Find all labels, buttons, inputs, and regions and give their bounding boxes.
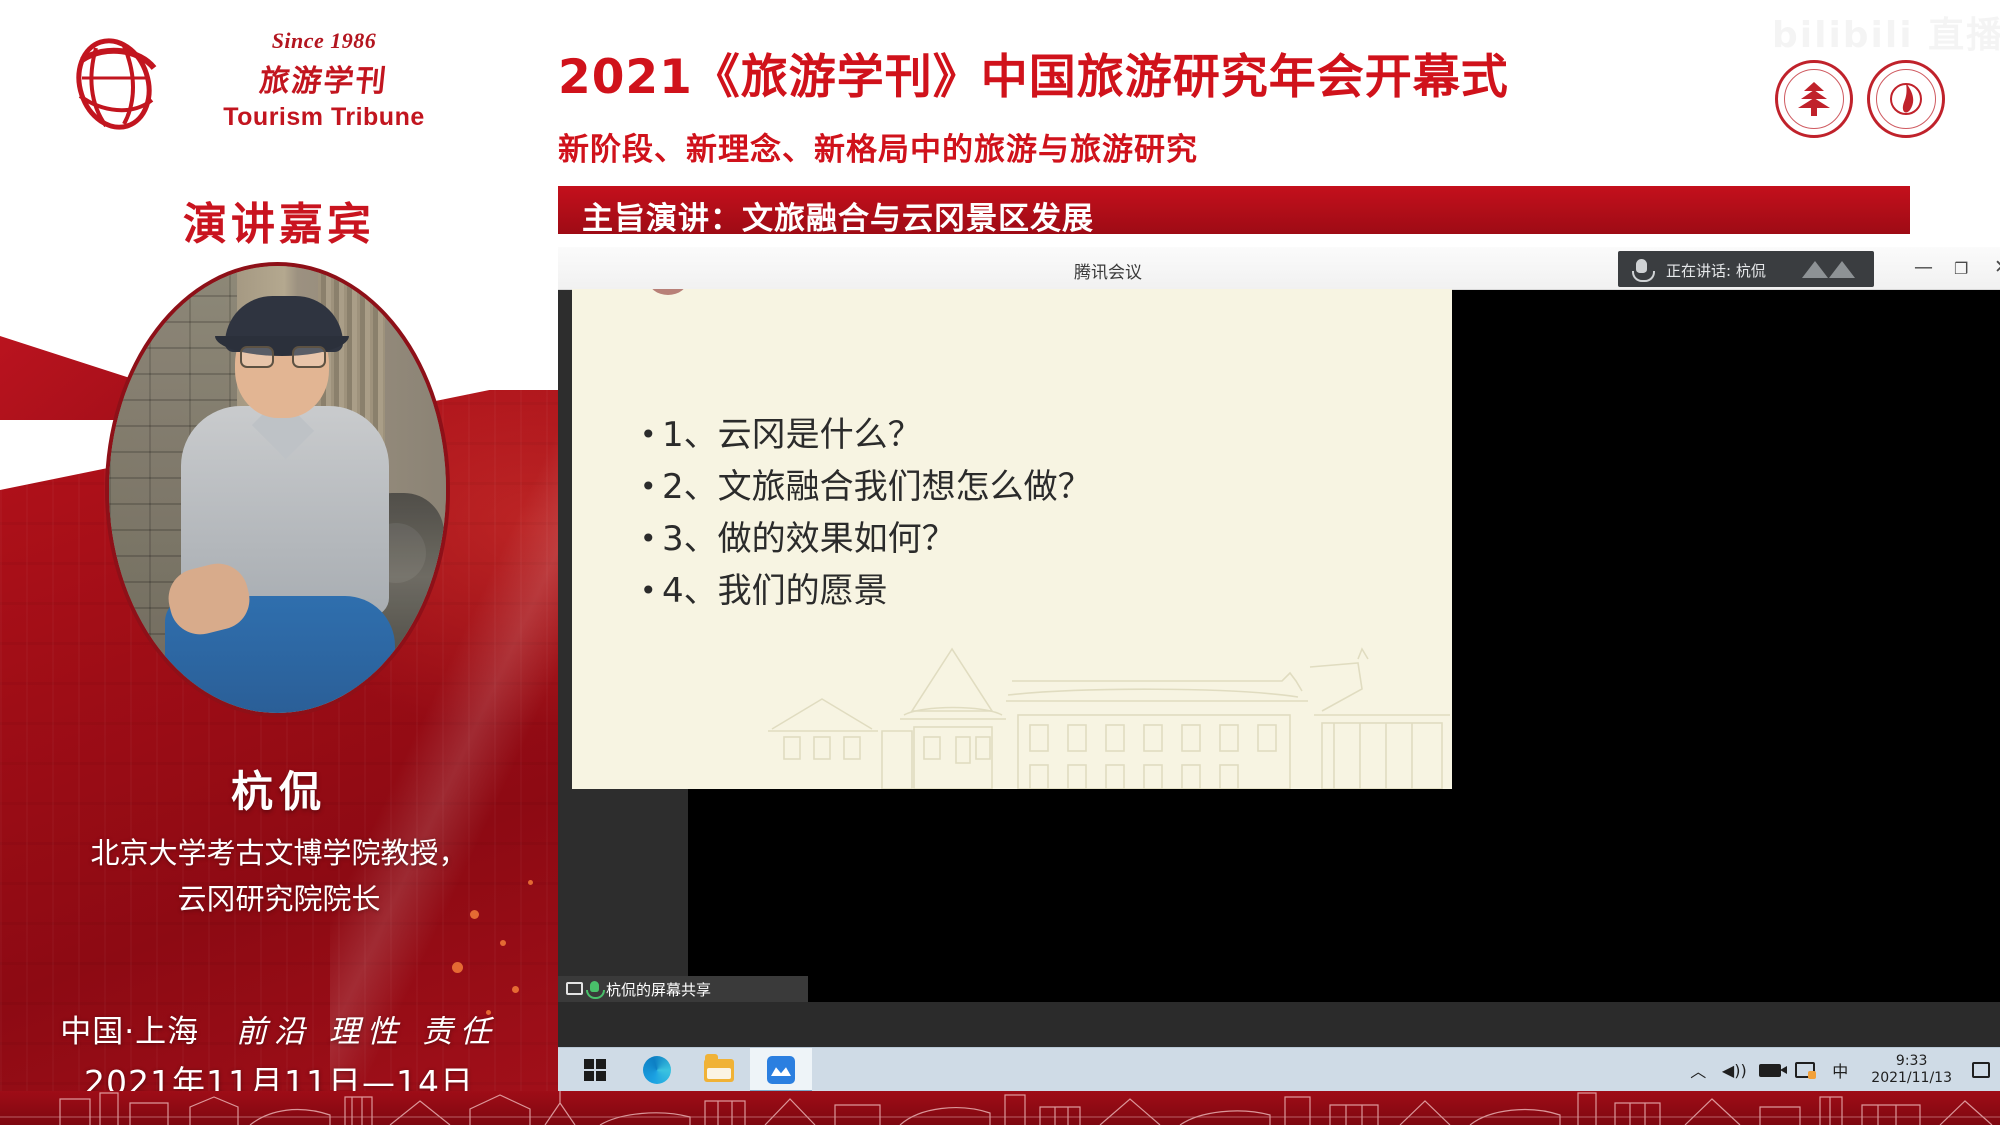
conference-title: 2021《旅游学刊》中国旅游研究年会开幕式 — [558, 38, 1638, 107]
logo-since-text: Since 1986 — [174, 28, 474, 54]
shanghai-normal-university-seal — [1867, 60, 1945, 138]
screen-share-status-bar: 杭侃的屏幕共享 — [558, 976, 808, 1002]
bullet-marker: • — [640, 513, 662, 565]
mic-active-icon — [590, 981, 599, 992]
list-item: • 3、做的效果如何？ — [640, 513, 1400, 565]
speaker-role: 北京大学考古文博学院教授， 云冈研究院院长 — [0, 830, 558, 922]
logo-english-name: Tourism Tribune — [174, 103, 474, 132]
tencent-meeting-icon — [767, 1056, 795, 1084]
meeting-window-title: 腾讯会议 — [558, 258, 1658, 283]
windows-logo-icon — [584, 1059, 606, 1081]
livestream-screen: Since 1986 旅游学刊 Tourism Tribune 演讲嘉宾 杭侃 … — [0, 0, 2000, 1125]
keynote-section-banner: 主旨演讲：文旅融合与云冈景区发展 — [558, 186, 1910, 234]
minimize-button[interactable]: — — [1914, 257, 1933, 277]
spark-particle — [512, 986, 519, 993]
tourism-tribune-logo: Since 1986 旅游学刊 Tourism Tribune — [62, 28, 482, 138]
spark-particle — [452, 962, 463, 973]
event-location: 中国·上海 — [60, 1014, 199, 1050]
list-item: • 2、文旅融合我们想怎么做？ — [640, 461, 1400, 513]
monitor-icon — [566, 982, 583, 995]
university-seals — [1775, 60, 1955, 140]
audio-wave-icon — [1802, 261, 1856, 279]
clock-date: 2021/11/13 — [1871, 1070, 1952, 1087]
pagoda-icon — [1794, 79, 1834, 119]
slide-decorative-arc — [648, 289, 688, 295]
globe-icon — [62, 34, 166, 134]
tencent-meeting-taskbar-button[interactable] — [750, 1048, 812, 1092]
folder-icon — [704, 1059, 734, 1082]
shanghai-skyline-icon — [0, 1091, 2000, 1125]
conference-subtitle: 新阶段、新理念、新格局中的旅游与旅游研究 — [558, 124, 1638, 169]
active-speaker-indicator: 正在讲话: 杭侃 — [1618, 251, 1874, 287]
chevron-up-icon[interactable]: ︿ — [1687, 1059, 1709, 1081]
taskbar-app-icons — [564, 1048, 812, 1092]
spark-particle — [500, 940, 506, 946]
speaker-panel: Since 1986 旅游学刊 Tourism Tribune 演讲嘉宾 杭侃 … — [0, 0, 558, 1125]
east-china-normal-university-seal — [1775, 60, 1853, 138]
event-location-row: 中国·上海 前沿 理性 责任 — [0, 1006, 558, 1051]
system-tray: ︿ ◀)) 中 9:33 2021/11/13 — [1687, 1048, 1990, 1092]
slide-canvas: • 1、云冈是什么？ • 2、文旅融合我们想怎么做？ • 3、做的效果如何？ •… — [572, 289, 1452, 789]
speaker-name: 杭侃 — [0, 758, 558, 819]
start-button[interactable] — [564, 1048, 626, 1092]
ime-language-icon[interactable]: 中 — [1829, 1059, 1851, 1081]
bullet-text: 1、云冈是什么？ — [662, 409, 922, 461]
flame-icon — [1886, 79, 1926, 119]
keynote-section-label: 主旨演讲：文旅融合与云冈景区发展 — [582, 193, 1094, 238]
clock-time: 9:33 — [1871, 1053, 1952, 1070]
restore-button[interactable]: ❐ — [1954, 259, 1968, 279]
bullet-marker: • — [640, 409, 662, 461]
close-button[interactable]: ✕ — [1994, 257, 2000, 277]
active-speaker-label: 正在讲话: 杭侃 — [1666, 260, 1766, 281]
portrait-glasses — [240, 346, 326, 368]
edge-browser-button[interactable] — [626, 1048, 688, 1092]
ime-picture-icon[interactable] — [1795, 1062, 1815, 1078]
list-item: • 4、我们的愿景 — [640, 565, 1400, 617]
speaker-role-line-2: 云冈研究院院长 — [0, 876, 558, 922]
bullet-marker: • — [640, 565, 662, 617]
slide-bullet-list: • 1、云冈是什么？ • 2、文旅融合我们想怎么做？ • 3、做的效果如何？ •… — [640, 409, 1400, 617]
screen-share-label: 杭侃的屏幕共享 — [606, 979, 711, 1000]
bullet-marker: • — [640, 461, 662, 513]
logo-chinese-name: 旅游学刊 — [172, 56, 477, 100]
bottom-decorative-band — [0, 1091, 2000, 1125]
speaker-portrait — [105, 262, 450, 717]
camera-icon[interactable] — [1759, 1064, 1781, 1077]
notification-center-icon[interactable] — [1972, 1062, 1990, 1078]
edge-icon — [643, 1056, 671, 1084]
guest-speaker-heading: 演讲嘉宾 — [0, 188, 558, 252]
list-item: • 1、云冈是什么？ — [640, 409, 1400, 461]
bilibili-watermark: bilibili 直播 — [1772, 6, 2000, 58]
event-slogan: 前沿 理性 责任 — [236, 1014, 498, 1050]
volume-icon[interactable]: ◀)) — [1723, 1059, 1745, 1081]
bullet-text: 3、做的效果如何？ — [662, 513, 956, 565]
temple-line-art-icon — [762, 619, 1452, 789]
microphone-icon — [1636, 259, 1647, 273]
clock[interactable]: 9:33 2021/11/13 — [1871, 1053, 1952, 1087]
bullet-text: 2、文旅融合我们想怎么做？ — [662, 461, 1092, 513]
meeting-title-bar[interactable]: 腾讯会议 正在讲话: 杭侃 — ❐ ✕ — [558, 247, 2000, 290]
speaker-role-line-1: 北京大学考古文博学院教授， — [0, 830, 558, 876]
windows-taskbar[interactable]: ︿ ◀)) 中 9:33 2021/11/13 — [558, 1047, 2000, 1091]
bullet-text: 4、我们的愿景 — [662, 565, 888, 617]
file-explorer-button[interactable] — [688, 1048, 750, 1092]
